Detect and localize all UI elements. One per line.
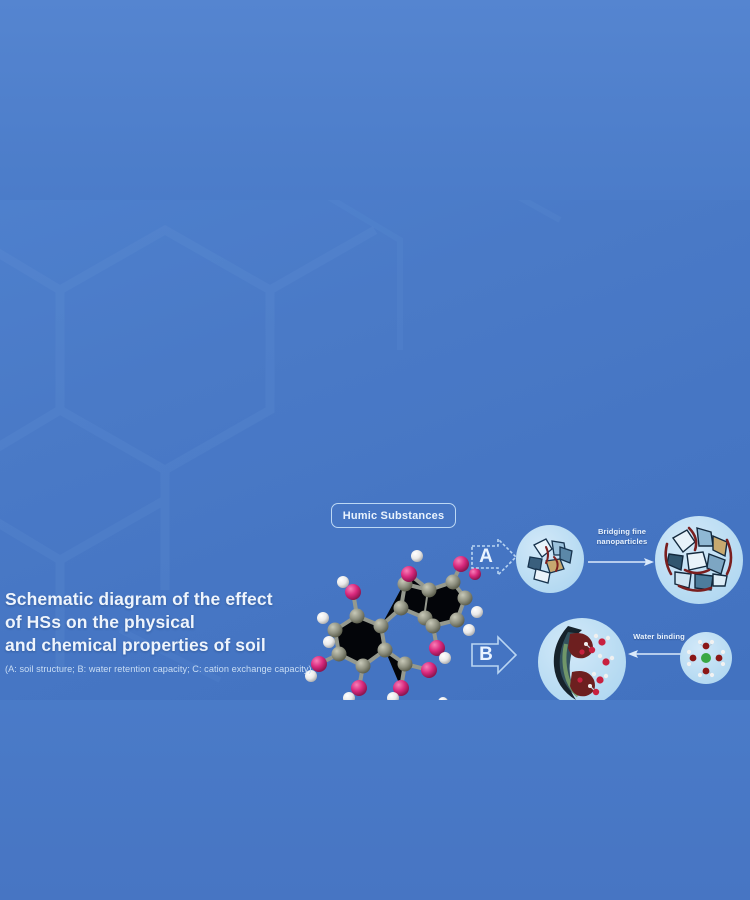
page-title: Schematic diagram of the effect of HSs o… — [5, 588, 335, 657]
connector-arrow-a-icon — [588, 556, 654, 568]
panel-marker-a: A — [470, 536, 518, 578]
bubble-soil-particles-loose — [516, 525, 584, 593]
title-line-2: of HSs on the physical — [5, 611, 335, 634]
loose-particles-icon — [516, 525, 584, 593]
water-cluster-icon — [680, 632, 732, 684]
humic-substances-text: Humic Substances — [343, 510, 445, 522]
bubble-humic-mineral-water-complex — [538, 618, 626, 700]
schematic-artwork: Humic Substances A — [0, 200, 750, 700]
letterbox-band-top — [0, 0, 750, 200]
panel-letter-b: B — [470, 634, 502, 676]
subtitle-legend: (A: soil structure; B: water retention c… — [5, 663, 345, 676]
panel-marker-b: B — [470, 634, 518, 676]
humic-molecule-bottom — [355, 680, 515, 700]
connector-label-a: Bridging fine nanoparticles — [580, 527, 664, 546]
panel-letter-a: A — [470, 536, 502, 578]
title-line-1: Schematic diagram of the effect — [5, 588, 335, 611]
bubble-soil-aggregate-bridged — [655, 516, 743, 604]
letterbox-band-bottom — [0, 700, 750, 900]
bubble-water-molecules-cluster — [680, 632, 732, 684]
title-line-3: and chemical properties of soil — [5, 634, 335, 657]
bridged-aggregate-icon — [655, 516, 743, 604]
connector-arrow-b-icon — [628, 648, 682, 660]
humic-mineral-water-icon — [538, 618, 626, 700]
image-canvas: Humic Substances A — [0, 0, 750, 900]
humic-substances-label: Humic Substances — [331, 503, 456, 528]
